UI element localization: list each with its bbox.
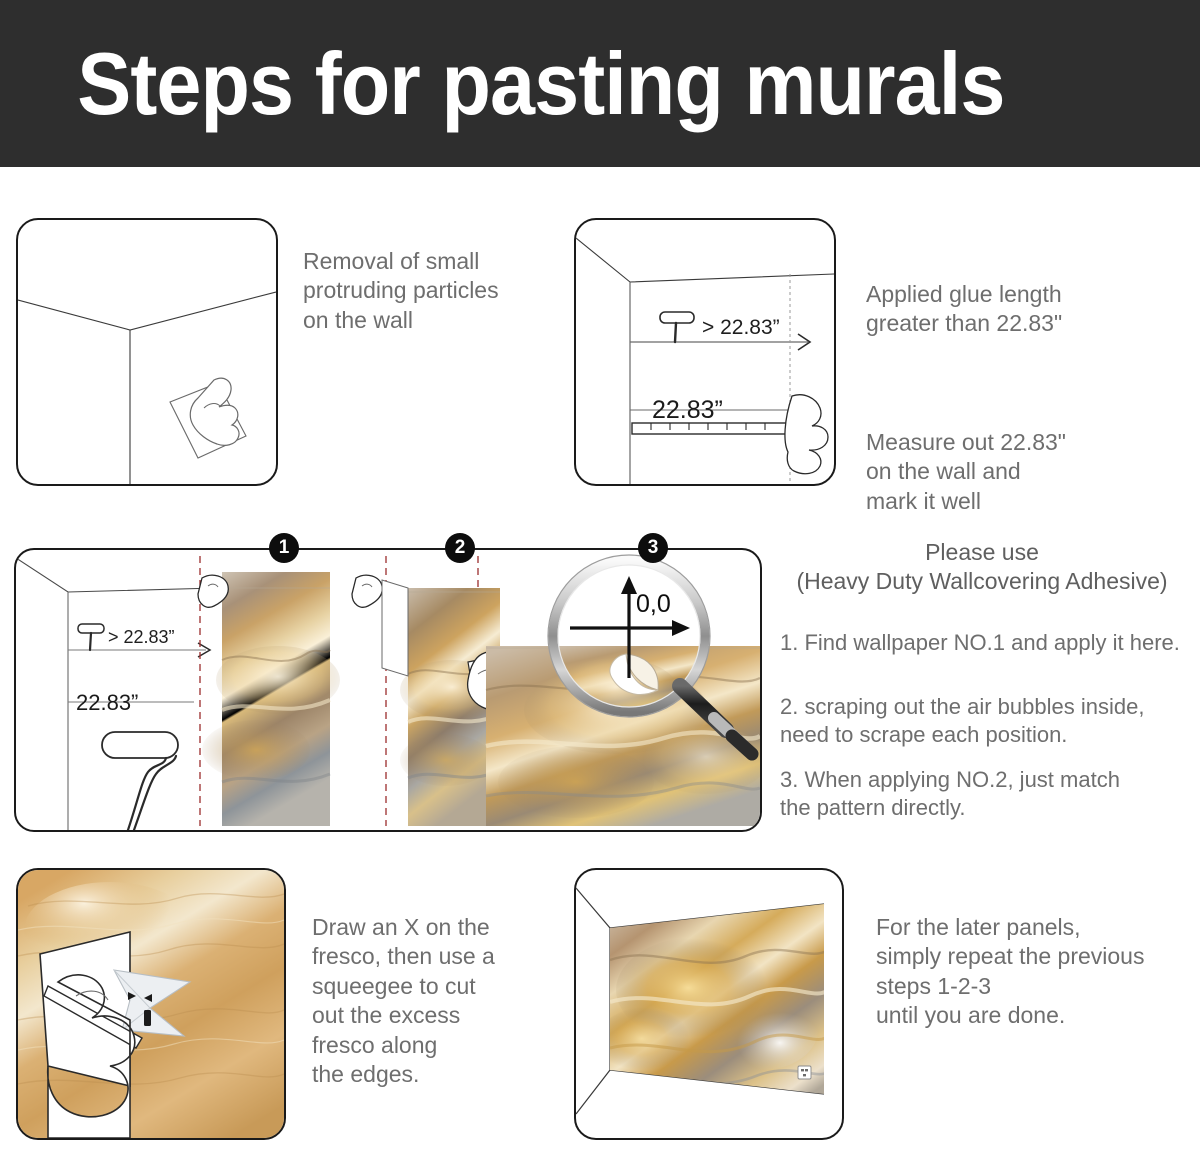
cut-x-illustration (18, 870, 284, 1138)
paint-roller-large-icon (102, 732, 178, 830)
instruction-item-1: 1. Find wallpaper NO.1 and apply it here… (780, 629, 1195, 657)
ruler-icon (632, 423, 790, 434)
panel-cut-excess (16, 868, 286, 1140)
panel-finished-wall (574, 868, 844, 1140)
roller-length-label: > 22.83” (108, 627, 175, 647)
wall-drawing-left: > 22.83” 22.83” (16, 558, 216, 830)
finished-wall-illustration (576, 870, 842, 1138)
step-badge-1: 1 (269, 533, 299, 563)
origin-label: 0,0 (636, 590, 671, 618)
panel-measure-glue: > 22.83” 22.83” (574, 218, 836, 486)
measure-illustration: > 22.83” 22.83” (576, 220, 834, 484)
panel-prepare-wall (16, 218, 278, 486)
step-badge-3: 3 (638, 533, 668, 563)
measure-length-label: 22.83” (652, 396, 723, 424)
roller-length-label: > 22.83” (702, 316, 780, 339)
hand-icon (352, 575, 382, 607)
caption-cut-excess: Draw an X on the fresco, then use a sque… (312, 913, 562, 1090)
caption-glue-length: Applied glue length greater than 22.83" (866, 280, 1176, 339)
instruction-item-2: 2. scraping out the air bubbles inside, … (780, 693, 1185, 749)
wall-corner-illustration (18, 220, 276, 484)
header-bar: Steps for pasting murals (0, 0, 1200, 167)
instructions-title-line1: Please use (925, 539, 1039, 565)
caption-prepare-wall: Removal of small protruding particles on… (303, 247, 563, 335)
caption-measure-wall: Measure out 22.83" on the wall and mark … (866, 428, 1176, 516)
instructions-title-line2: (Heavy Duty Wallcovering Adhesive) (796, 568, 1167, 594)
panel-apply-panels: > 22.83” 22.83” (14, 548, 762, 832)
mural-strip-1 (202, 572, 340, 826)
instruction-item-3: 3. When applying NO.2, just match the pa… (780, 766, 1180, 822)
outlet-icon (798, 1066, 811, 1079)
measure-length-label: 22.83” (76, 690, 138, 715)
paint-roller-icon (660, 312, 694, 342)
page-title: Steps for pasting murals (0, 33, 1004, 135)
paint-roller-icon (78, 624, 104, 650)
caption-finished-wall: For the later panels, simply repeat the … (876, 913, 1200, 1031)
instructions-heading: Please use(Heavy Duty Wallcovering Adhes… (768, 538, 1196, 597)
apply-panels-illustration: > 22.83” 22.83” (16, 550, 760, 830)
step-badge-2: 2 (445, 533, 475, 563)
